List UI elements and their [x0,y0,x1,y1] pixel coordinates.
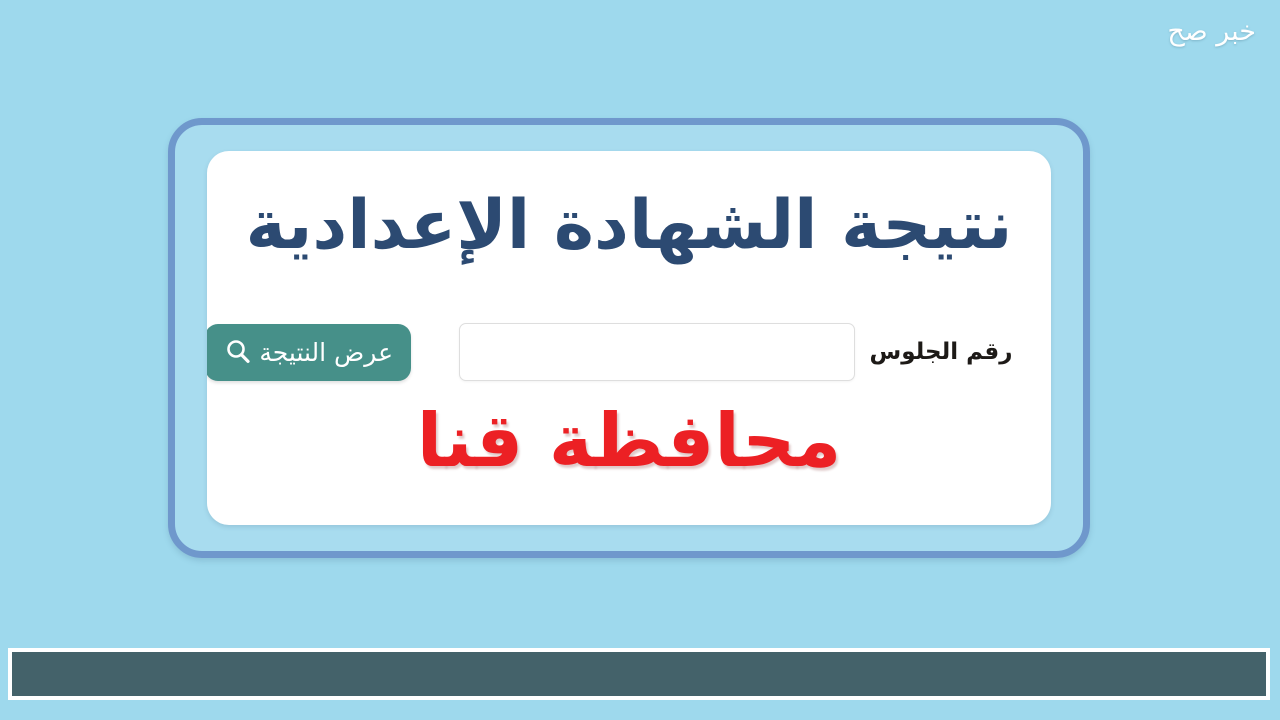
bottom-bar [8,648,1270,700]
watermark-brand: خبر صح [1167,18,1256,45]
result-card: نتيجة الشهادة الإعدادية رقم الجلوس عرض ا… [207,151,1051,525]
seat-number-input[interactable] [459,323,855,381]
result-card-frame: نتيجة الشهادة الإعدادية رقم الجلوس عرض ا… [168,118,1090,558]
show-result-button[interactable]: عرض النتيجة [207,324,411,381]
search-icon [223,337,253,367]
seat-number-form: رقم الجلوس عرض النتيجة [241,321,1021,383]
page-title: نتيجة الشهادة الإعدادية [207,187,1051,265]
governorate-title: محافظة قنا [207,399,1051,484]
show-result-button-label: عرض النتيجة [259,340,393,365]
seat-number-label: رقم الجلوس [861,341,1021,364]
